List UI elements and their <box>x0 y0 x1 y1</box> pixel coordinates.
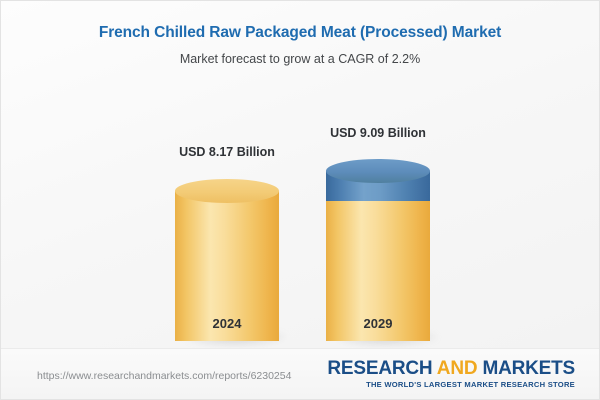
chart-header: French Chilled Raw Packaged Meat (Proces… <box>1 1 599 68</box>
logo-word-and: AND <box>432 358 482 379</box>
chart-subtitle: Market forecast to grow at a CAGR of 2.2… <box>1 51 599 68</box>
bar-top-ellipse-2029 <box>326 159 430 183</box>
bar-group-2029: USD 9.09 Billion <box>326 126 430 341</box>
footer: https://www.researchandmarkets.com/repor… <box>1 349 599 399</box>
x-axis-tick-2029: 2029 <box>286 316 470 331</box>
logo-tagline: THE WORLD'S LARGEST MARKET RESEARCH STOR… <box>327 380 575 390</box>
page-title: French Chilled Raw Packaged Meat (Proces… <box>1 23 599 43</box>
bar-cylinder-2029[interactable] <box>326 159 430 341</box>
report-url[interactable]: https://www.researchandmarkets.com/repor… <box>37 370 291 382</box>
research-and-markets-logo[interactable]: RESEARCH AND MARKETS THE WORLD'S LARGEST… <box>327 358 575 390</box>
logo-wordmark: RESEARCH AND MARKETS <box>327 358 575 379</box>
chart-plot-area: USD 8.17 Billion USD 9.09 Billion <box>1 91 599 341</box>
logo-word-research: RESEARCH <box>327 358 432 379</box>
bar-value-label-2024: USD 8.17 Billion <box>135 145 319 159</box>
bar-value-label-2029: USD 9.09 Billion <box>286 126 470 140</box>
bar-group-2024: USD 8.17 Billion <box>175 126 279 341</box>
chart-card: French Chilled Raw Packaged Meat (Proces… <box>0 0 600 400</box>
bar-top-ellipse-2024 <box>175 179 279 203</box>
x-axis-labels: 2024 2029 <box>1 316 599 336</box>
logo-word-markets: MARKETS <box>482 358 575 379</box>
